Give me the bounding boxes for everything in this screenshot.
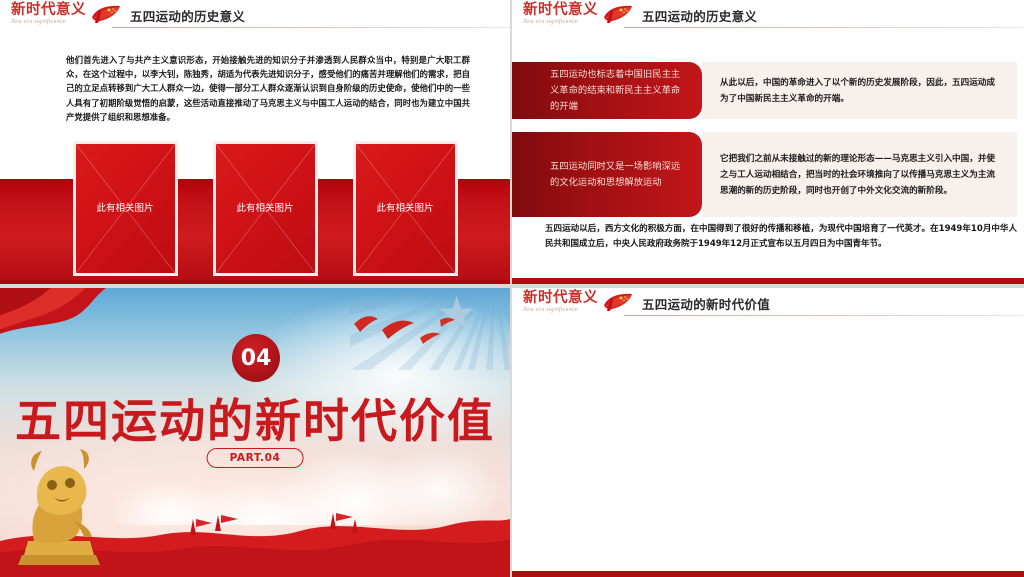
china-flag-emblem-icon bbox=[598, 3, 638, 25]
content-row: 五四运动同时又是一场影响深远的文化运动和思想解放运动 它把我们之前从未接触过的新… bbox=[512, 132, 1017, 217]
section-number-badge: 04 bbox=[232, 334, 280, 382]
slide-deck: 新时代意义 New era significance 五四运动的历史意义 他们首… bbox=[0, 0, 1024, 577]
slide-new-era-value[interactable]: 新时代意义 New era significance 五四运动的新时代价值 20… bbox=[512, 288, 1024, 577]
china-flag-emblem-icon bbox=[86, 3, 126, 25]
row-tag-label: 五四运动也标志着中国旧民主主义革命的结束和新民主主义革命的开端 bbox=[512, 67, 702, 115]
slide-history-text[interactable]: 新时代意义 New era significance 五四运动的历史意义 他们首… bbox=[0, 0, 510, 284]
red-flag-icon bbox=[0, 288, 122, 342]
red-bottom-bar bbox=[512, 278, 1024, 284]
image-placeholder[interactable]: 此有相关图片 bbox=[353, 141, 458, 276]
header-divider bbox=[624, 27, 1024, 28]
row-panel-text: 它把我们之前从未接触过的新的理论形态——马克思主义引入中国，并使之与工人运动相结… bbox=[702, 151, 1017, 199]
section-title: 五四运动的新时代价值 bbox=[0, 396, 510, 446]
placeholder-label: 此有相关图片 bbox=[237, 201, 295, 216]
slide-title: 五四运动的历史意义 bbox=[642, 6, 757, 25]
slide-title: 五四运动的历史意义 bbox=[130, 6, 245, 25]
header-brand-en: New era significance bbox=[11, 19, 66, 25]
row-tag-label: 五四运动同时又是一场影响深远的文化运动和思想解放运动 bbox=[512, 159, 702, 191]
header-brand-cn: 新时代意义 bbox=[523, 3, 598, 18]
stone-lion-statue-icon bbox=[4, 437, 112, 571]
image-placeholder-row: 此有相关图片 此有相关图片 此有相关图片 bbox=[73, 141, 458, 276]
body-paragraph: 他们首先进入了与共产主义意识形态，开始接触先进的知识分子并渗透到人民群众当中，特… bbox=[66, 53, 470, 124]
header-brand-en: New era significance bbox=[523, 19, 578, 25]
slide-section-cover[interactable]: ★ bbox=[0, 288, 510, 577]
header-brand-en: New era significance bbox=[523, 307, 578, 313]
red-bottom-bar bbox=[512, 571, 1024, 577]
content-row: 五四运动也标志着中国旧民主主义革命的结束和新民主主义革命的开端 从此以后，中国的… bbox=[512, 62, 1017, 119]
slide-header: 新时代意义 New era significance 五四运动的历史意义 bbox=[0, 0, 510, 36]
flying-doves-icon bbox=[348, 308, 458, 356]
slide-history-cards[interactable]: 新时代意义 New era significance 五四运动的历史意义 五四运… bbox=[512, 0, 1024, 284]
slide-title: 五四运动的新时代价值 bbox=[642, 294, 770, 313]
image-placeholder[interactable]: 此有相关图片 bbox=[73, 141, 178, 276]
row-panel: 它把我们之前从未接触过的新的理论形态——马克思主义引入中国，并使之与工人运动相结… bbox=[702, 132, 1017, 217]
row-panel: 从此以后，中国的革命进入了以个新的历史发展阶段，因此，五四运动成为了中国新民主主… bbox=[702, 62, 1017, 119]
slide-header: 新时代意义 New era significance 五四运动的历史意义 bbox=[512, 0, 1024, 36]
placeholder-label: 此有相关图片 bbox=[97, 201, 155, 216]
placeholder-label: 此有相关图片 bbox=[377, 201, 435, 216]
image-placeholder[interactable]: 此有相关图片 bbox=[213, 141, 318, 276]
header-divider bbox=[624, 315, 1024, 316]
footer-paragraph: 五四运动以后，西方文化的积极方面，在中国得到了很好的传播和移植，为现代中国培育了… bbox=[545, 222, 1017, 252]
part-label-badge: PART.04 bbox=[207, 448, 304, 468]
china-flag-emblem-icon bbox=[598, 291, 638, 313]
row-tag: 五四运动同时又是一场影响深远的文化运动和思想解放运动 bbox=[512, 132, 702, 217]
header-brand-cn: 新时代意义 bbox=[11, 3, 86, 18]
slide-header: 新时代意义 New era significance 五四运动的新时代价值 bbox=[512, 288, 1024, 324]
header-divider bbox=[112, 27, 510, 28]
row-tag: 五四运动也标志着中国旧民主主义革命的结束和新民主主义革命的开端 bbox=[512, 62, 702, 119]
row-panel-text: 从此以后，中国的革命进入了以个新的历史发展阶段，因此，五四运动成为了中国新民主主… bbox=[702, 75, 1017, 107]
header-brand-cn: 新时代意义 bbox=[523, 291, 598, 306]
